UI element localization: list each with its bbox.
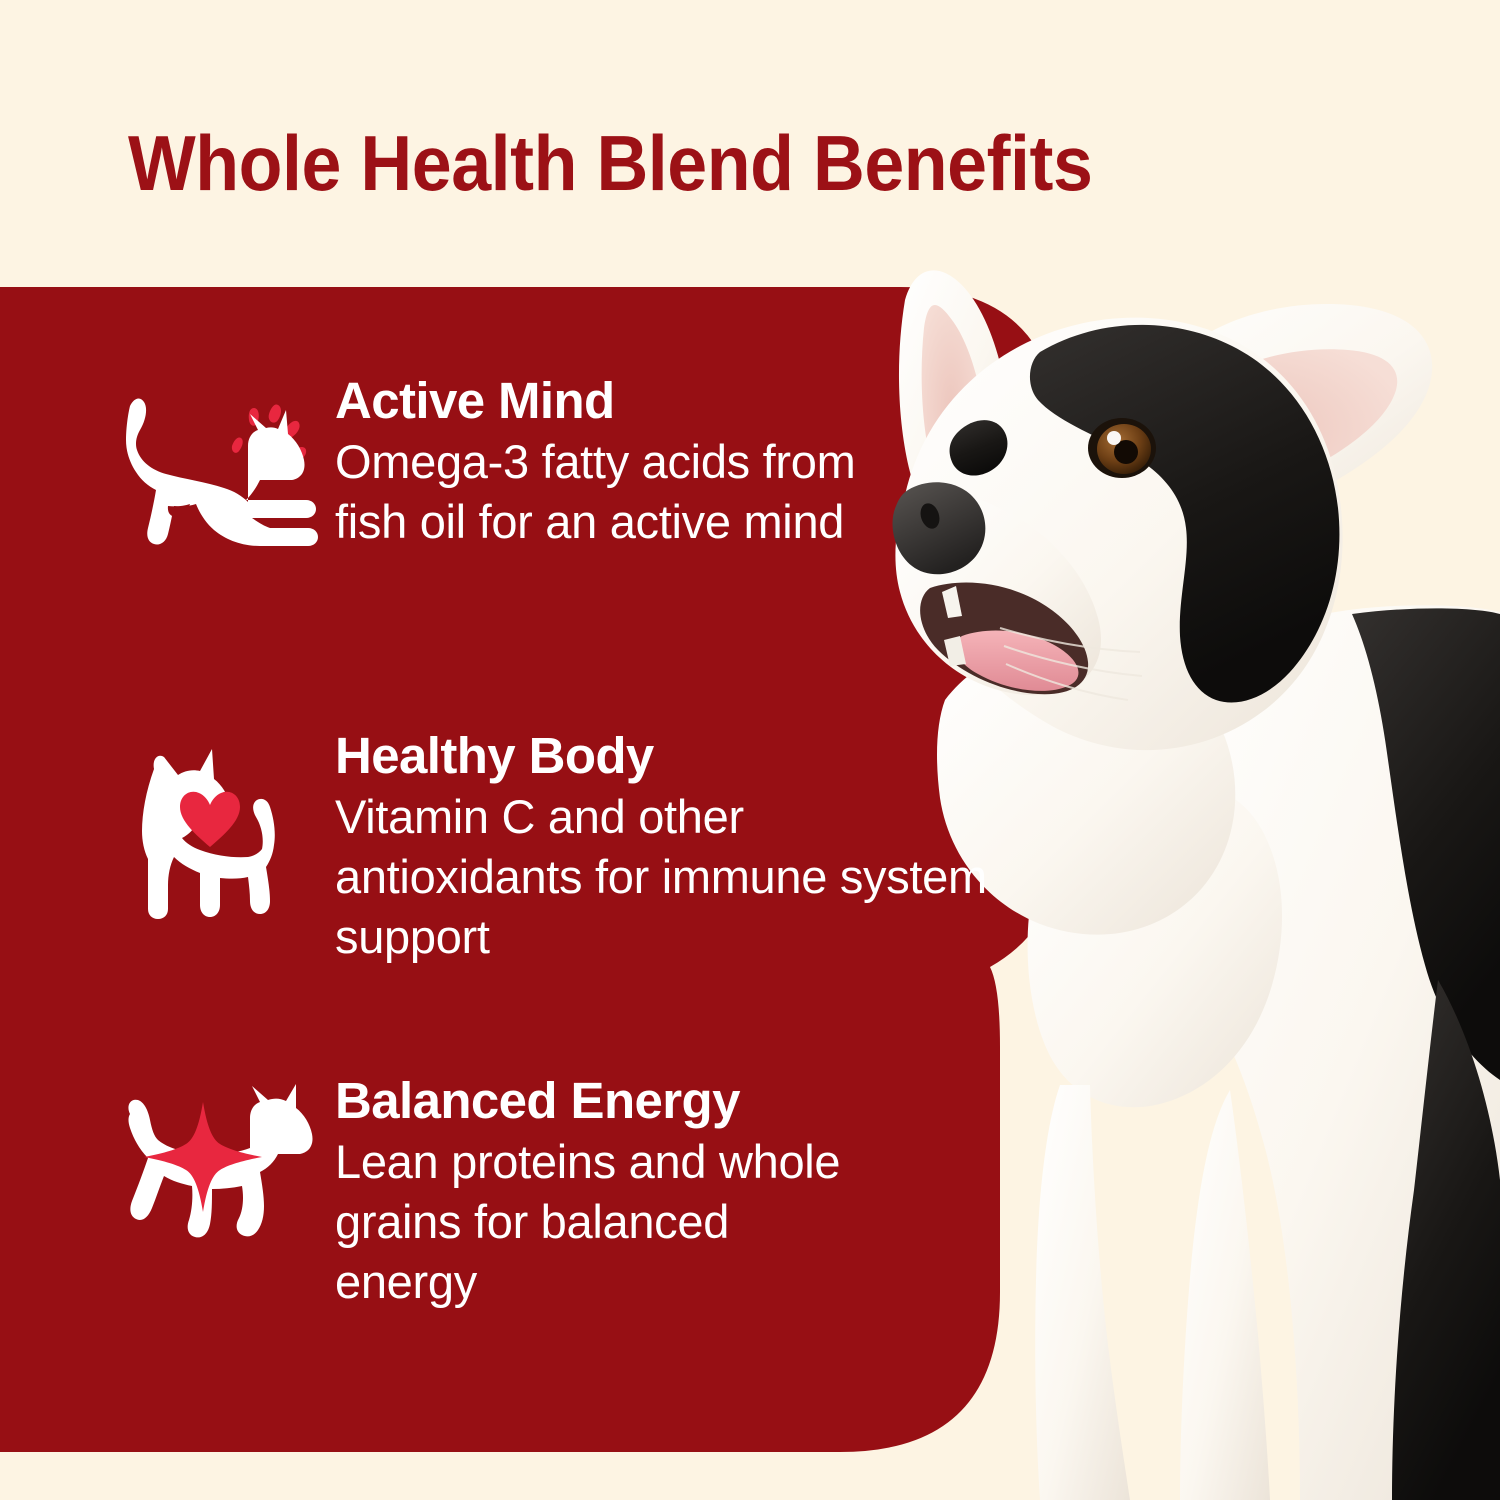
dog-standing-heart-icon-svg (120, 739, 310, 919)
benefit-description: Lean proteins and whole grains for balan… (335, 1132, 855, 1312)
dog-play-bow-sparks-icon-svg (110, 384, 320, 559)
dog-standing-heart-icon (95, 727, 335, 919)
dog-play-bow-body (126, 399, 318, 546)
dog-eye-pupil (1114, 440, 1138, 464)
benefit-title: Healthy Body (335, 727, 1025, 785)
benefit-text-block: Balanced Energy Lean proteins and whole … (335, 1072, 915, 1312)
dog-ear-right-inner (1141, 349, 1397, 508)
benefit-item-balanced-energy: Balanced Energy Lean proteins and whole … (95, 1072, 915, 1312)
dog-rear-patch (1392, 980, 1500, 1500)
benefit-item-healthy-body: Healthy Body Vitamin C and other antioxi… (95, 727, 1025, 967)
benefit-title: Balanced Energy (335, 1072, 915, 1130)
benefit-title: Active Mind (335, 372, 885, 430)
benefit-description: Vitamin C and other antioxidants for imm… (335, 787, 995, 967)
dog-trotting-sparkle-icon-svg (108, 1084, 323, 1249)
page-title: Whole Health Blend Benefits (128, 122, 1140, 204)
dog-eye-iris (1097, 424, 1151, 474)
benefit-text-block: Healthy Body Vitamin C and other antioxi… (335, 727, 1025, 967)
product-benefits-infographic: Whole Health Blend Benefits (0, 0, 1500, 1500)
dog-play-bow-sparks-icon (95, 372, 335, 559)
dog-torso (1134, 605, 1500, 1500)
dog-chest (1028, 785, 1282, 1108)
dog-front-leg-right (1180, 1090, 1270, 1500)
dog-trotting-sparkle-icon (95, 1072, 335, 1249)
dog-eye-socket (1088, 418, 1156, 478)
dog-face-mask (1030, 325, 1339, 703)
benefit-description: Omega-3 fatty acids from fish oil for an… (335, 432, 885, 552)
benefit-text-block: Active Mind Omega-3 fatty acids from fis… (335, 372, 885, 552)
benefits-list: Active Mind Omega-3 fatty acids from fis… (0, 287, 1060, 1452)
dog-ear-right (1096, 304, 1432, 540)
dog-eye-highlight (1107, 431, 1121, 445)
dog-back-patch (1352, 608, 1500, 1080)
benefit-item-active-mind: Active Mind Omega-3 fatty acids from fis… (95, 372, 885, 559)
